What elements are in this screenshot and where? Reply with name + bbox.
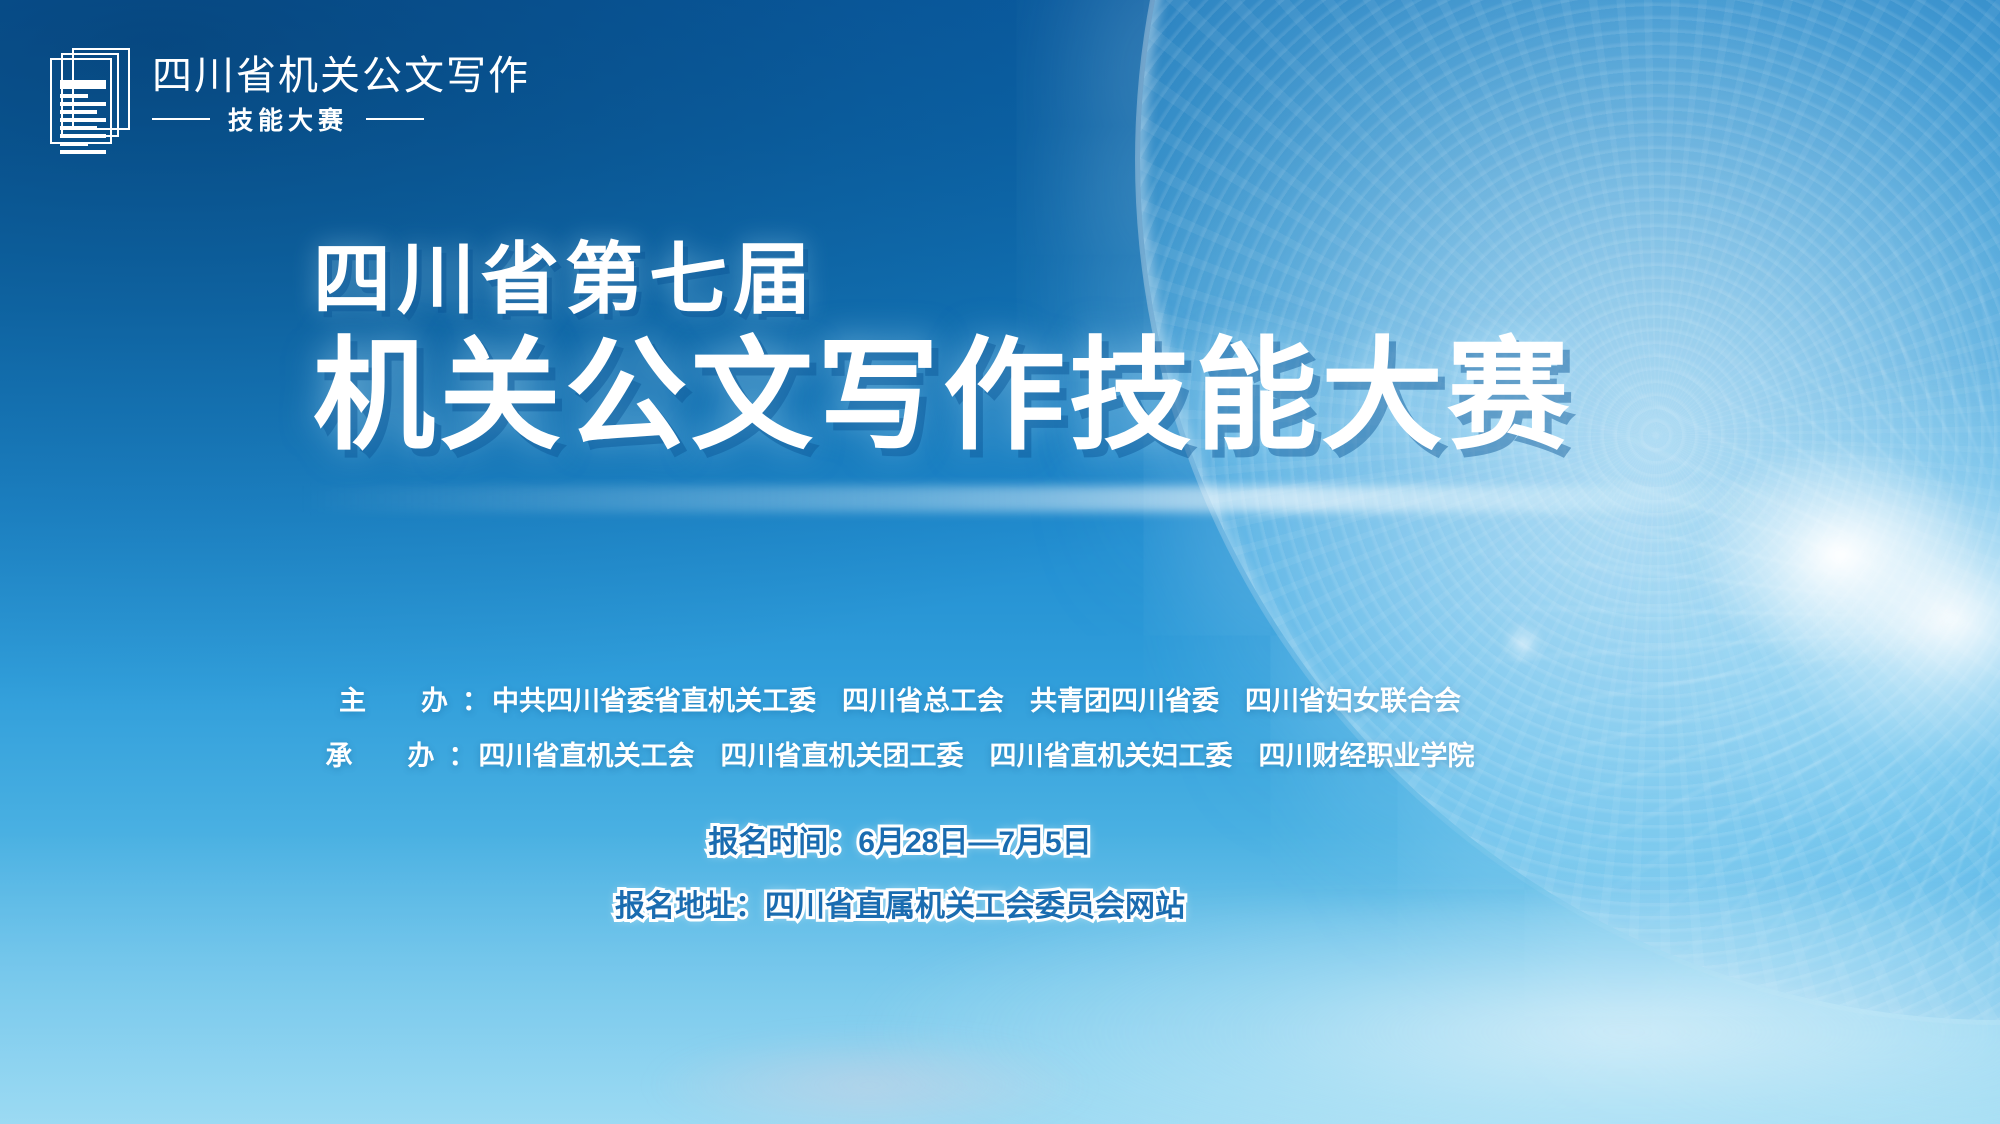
logo-subtitle-row: 技能大赛 <box>152 101 530 137</box>
logo-subtitle: 技能大赛 <box>228 101 348 137</box>
lens-flare-orb <box>1500 620 1546 666</box>
organizer-item: 中共四川省委省直机关工委 <box>492 686 816 716</box>
document-sheet-front <box>50 58 112 144</box>
organizer-item: 四川省直机关工会 <box>479 741 695 771</box>
doc-line <box>60 102 106 106</box>
organizer-item: 四川财经职业学院 <box>1259 741 1475 771</box>
doc-line <box>60 110 97 114</box>
stacked-documents-icon <box>50 48 130 144</box>
logo-text-block: 四川省机关公文写作 技能大赛 <box>152 55 530 137</box>
doc-line <box>60 134 106 138</box>
doc-line <box>60 118 106 122</box>
organizer-row-host: 主 办：中共四川省委省直机关工委四川省总工会共青团四川省委四川省妇女联合会 <box>0 688 1800 715</box>
doc-line <box>60 94 88 98</box>
organizer-row-coorganizer: 承 办：四川省直机关工会四川省直机关团工委四川省直机关妇工委四川财经职业学院 <box>0 743 1800 770</box>
logo-rule-right <box>366 118 424 120</box>
document-text-lines <box>60 80 106 158</box>
warm-tint <box>560 1010 1180 1124</box>
headline-block: 四川省第七届 机关公文写作技能大赛 <box>313 240 1733 458</box>
organizer-item: 共青团四川省委 <box>1030 686 1219 716</box>
logo-rule-left <box>152 118 210 120</box>
headline-line-2: 机关公文写作技能大赛 <box>313 334 1733 458</box>
organizer-item: 四川省总工会 <box>842 686 1004 716</box>
organizer-colon: ： <box>462 686 492 716</box>
title-underline-streak <box>300 486 1800 512</box>
organizer-item: 四川省妇女联合会 <box>1245 686 1461 716</box>
organizer-label: 承 办 <box>326 741 449 771</box>
event-logo: 四川省机关公文写作 技能大赛 <box>50 48 530 144</box>
light-swoosh-1 <box>0 516 2000 1124</box>
registration-address: 报名地址：四川省直属机关工会委员会网站 <box>0 892 1800 922</box>
doc-line <box>60 142 88 146</box>
headline-line-1: 四川省第七届 <box>313 240 1733 318</box>
organizer-colon: ： <box>449 741 479 771</box>
organizer-label: 主 办 <box>339 686 462 716</box>
organizer-item: 四川省直机关团工委 <box>721 741 964 771</box>
logo-title: 四川省机关公文写作 <box>152 55 530 97</box>
event-poster: 四川省机关公文写作 技能大赛 四川省第七届 机关公文写作技能大赛 主 办：中共四… <box>0 0 2000 1124</box>
registration-time: 报名时间：6月28日—7月5日 <box>0 828 1800 858</box>
doc-line <box>60 126 97 130</box>
doc-line <box>60 150 106 154</box>
organizers-block: 主 办：中共四川省委省直机关工委四川省总工会共青团四川省委四川省妇女联合会 承 … <box>0 688 1800 798</box>
doc-line <box>60 80 106 89</box>
organizer-item: 四川省直机关妇工委 <box>990 741 1233 771</box>
registration-block: 报名时间：6月28日—7月5日 报名地址：四川省直属机关工会委员会网站 <box>0 828 1800 956</box>
